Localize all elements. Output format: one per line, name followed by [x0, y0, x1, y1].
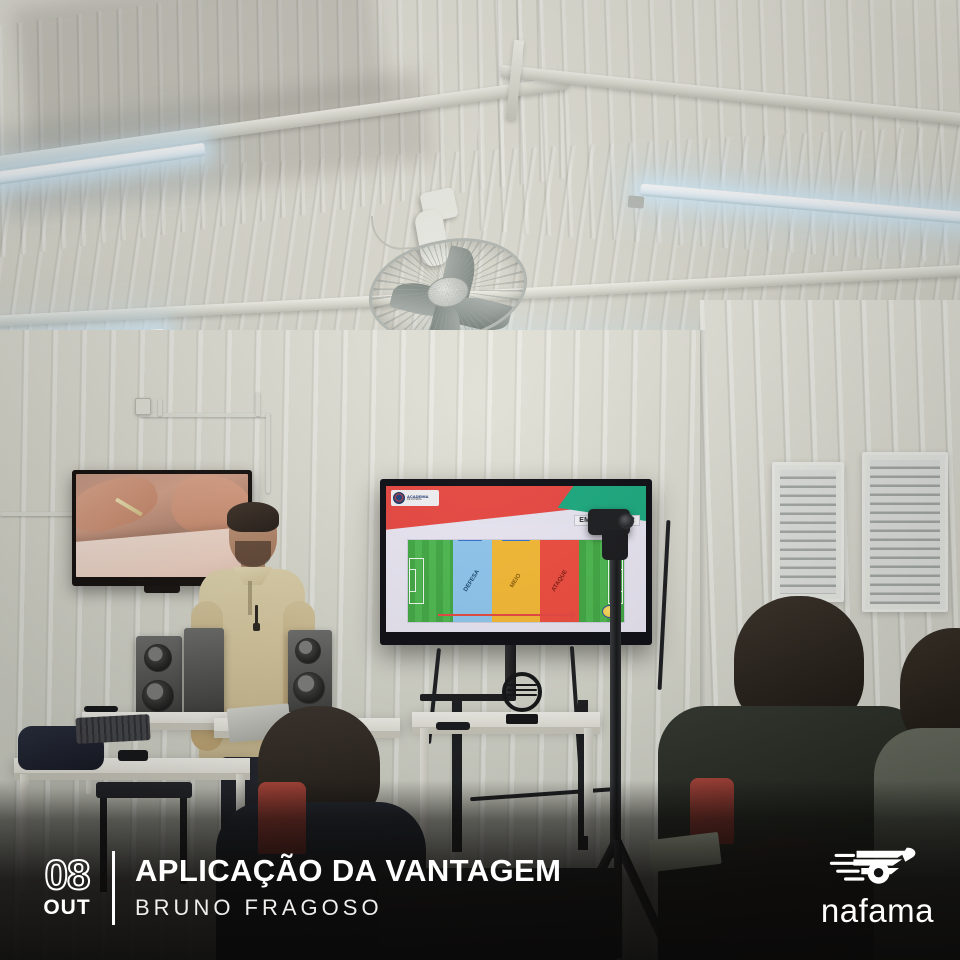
presenter-beard: [235, 541, 271, 567]
brand-lockup: nafama: [821, 846, 934, 930]
pitch-zone-meio: MEIO: [492, 540, 541, 623]
stereo-speaker-left: [136, 636, 182, 718]
banner-content-row: 08 OUT APLICAÇÃO DA VANTAGEM BRUNO FRAGO…: [26, 846, 934, 930]
talk-title: APLICAÇÃO DA VANTAGEM: [135, 855, 561, 888]
wall-trim-rail: [0, 512, 78, 516]
direction-arrow-icon: [438, 614, 572, 616]
nafama-speed-wing-icon: [829, 846, 925, 890]
pitch-zone-label-defesa: DEFESA: [463, 569, 481, 593]
junction-box: [135, 398, 151, 415]
trophy-wing-2: [507, 689, 537, 691]
slide-academy-logo: ACADEMIA DE FUTEBOL: [391, 490, 439, 506]
speaker-name: BRUNO FRAGOSO: [135, 895, 561, 921]
electrical-conduit-vertical: [266, 413, 270, 493]
speaker-woofer-right: [293, 672, 325, 704]
academy-logo-subtext: DE FUTEBOL: [407, 499, 429, 501]
trophy-base: [506, 714, 538, 724]
lower-third-banner: 08 OUT APLICAÇÃO DA VANTAGEM BRUNO FRAGO…: [0, 780, 960, 960]
pitch-zone-ataque: ATAQUE: [540, 540, 579, 623]
event-photo-screenshot: ACADEMIA DE FUTEBOL EM QUALQUER DEFESA M…: [0, 0, 960, 960]
camera-lens: [618, 513, 634, 529]
pitch-zone-defesa: DEFESA: [453, 540, 492, 623]
date-month: OUT: [43, 896, 90, 920]
cable-remote-rear: [84, 706, 118, 712]
date-day: 08: [45, 856, 90, 895]
ceiling-fan: [360, 196, 535, 344]
tv-left-mount: [144, 586, 180, 593]
remote-control-display-table[interactable]: [436, 722, 470, 730]
stereo-speaker-right: [288, 630, 332, 714]
presenter-placket: [248, 581, 252, 615]
trophy-wing-1: [507, 684, 537, 686]
vertical-divider-icon: [112, 851, 115, 925]
slide-pitch-diagram: DEFESA MEIO ATAQUE: [407, 539, 625, 624]
conduit-drop-right: [256, 392, 260, 416]
window-left: [772, 462, 844, 602]
electrical-conduit-vertical-2: [158, 398, 162, 416]
title-block: APLICAÇÃO DA VANTAGEM BRUNO FRAGOSO: [135, 855, 561, 921]
trophy-wing-3: [507, 694, 537, 696]
date-badge: 08 OUT: [26, 856, 108, 921]
stereo-center-unit: [184, 628, 224, 716]
window-blind-left[interactable]: [780, 470, 836, 594]
tube-end-cap-right: [628, 195, 645, 208]
trophy-ring: [502, 672, 542, 712]
nafama-logo-trophy: [498, 672, 546, 726]
window-blind-right[interactable]: [870, 460, 940, 604]
speaker-tweeter-right: [295, 638, 321, 664]
keyboard-on-table: [75, 714, 150, 744]
tripod-head: [602, 530, 628, 560]
pitch-zone-label-ataque: ATAQUE: [551, 569, 569, 593]
window-right: [862, 452, 948, 612]
brand-name: nafama: [821, 892, 934, 930]
lavalier-microphone: [255, 605, 258, 627]
pitch-zone-label-meio: MEIO: [509, 573, 522, 589]
academy-crest-icon: [393, 492, 405, 504]
pitch-zone-left-grass: [408, 540, 453, 623]
speaker-woofer-left: [142, 680, 174, 712]
speaker-tweeter-left: [144, 644, 172, 672]
presenter-hair: [227, 502, 279, 532]
remote-control-left[interactable]: [118, 750, 148, 761]
